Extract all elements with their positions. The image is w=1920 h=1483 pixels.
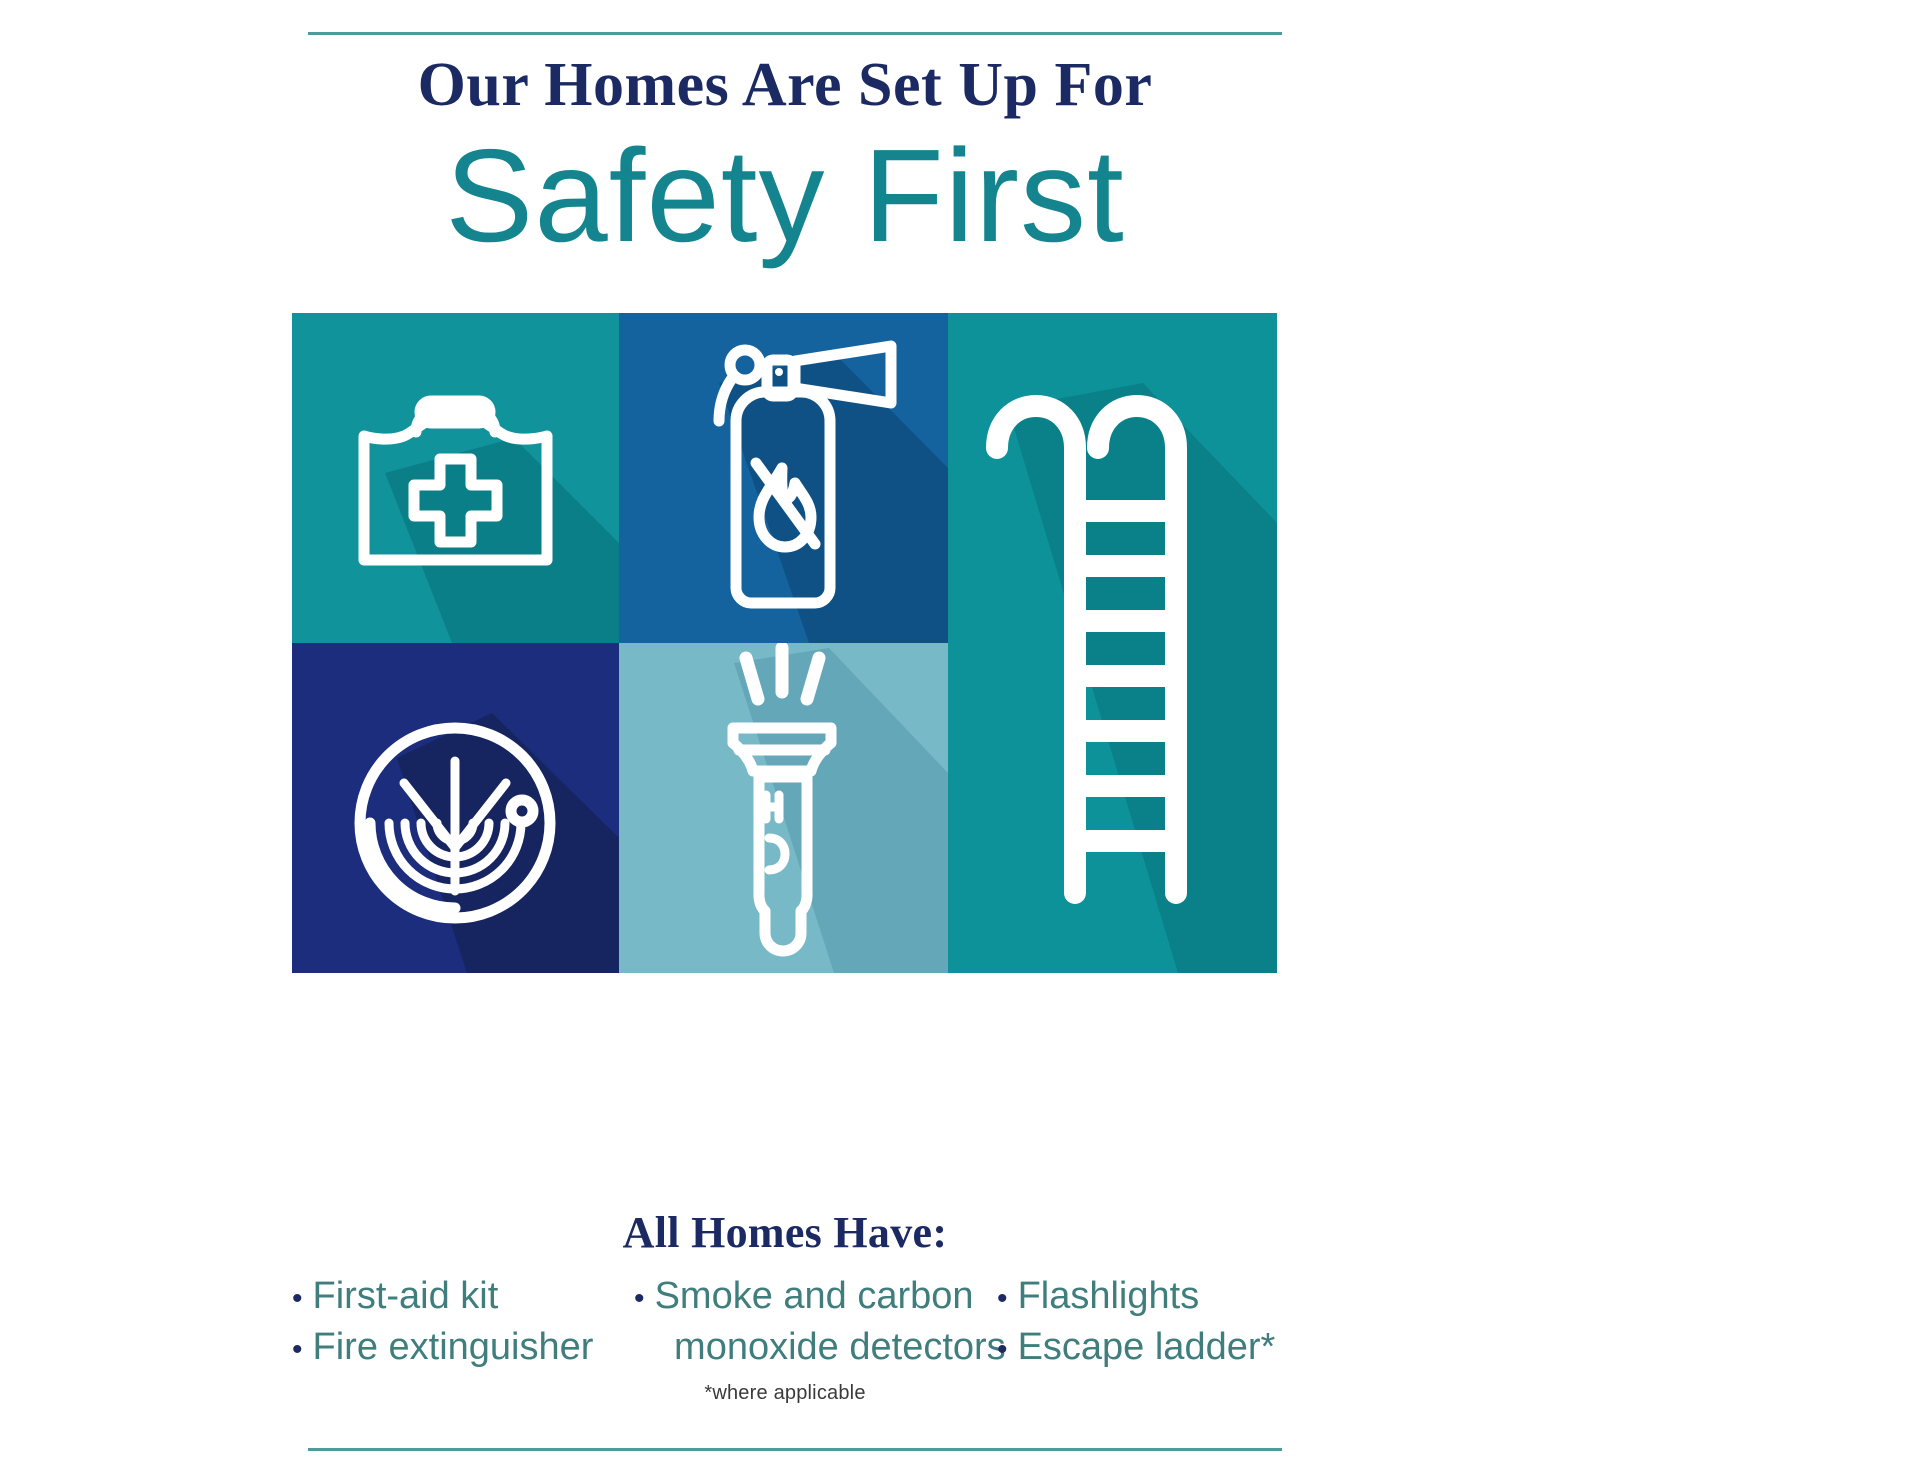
bullet-dot-icon: • <box>292 1274 303 1323</box>
bullet-dot-icon: • <box>997 1325 1008 1374</box>
list-item-label: Fire extinguisher <box>313 1323 594 1372</box>
smoke-detector-icon <box>292 643 619 973</box>
headline-line-2: Safety First <box>0 126 1570 266</box>
list-item-label: Smoke and carbon <box>655 1272 974 1321</box>
first-aid-kit-icon <box>292 313 619 643</box>
list-item-label: First-aid kit <box>313 1272 499 1321</box>
bullet-dot-icon: • <box>292 1325 303 1374</box>
tile-escape-ladder <box>948 313 1277 973</box>
list-item-continuation: monoxide detectors <box>634 1323 979 1372</box>
list-item-label: Flashlights <box>1018 1272 1200 1321</box>
flashlight-icon <box>619 643 948 973</box>
list-item-label: monoxide detectors <box>674 1323 1006 1372</box>
tile-fire-extinguisher <box>619 313 948 643</box>
list-item: • Flashlights <box>997 1272 1300 1323</box>
fire-extinguisher-icon <box>619 313 948 643</box>
top-divider-rule <box>308 32 1282 35</box>
list-item-label: Escape ladder* <box>1018 1323 1276 1372</box>
tile-flashlight <box>619 643 948 973</box>
checklist-columns: • First-aid kit • Fire extinguisher • Sm… <box>270 1272 1300 1374</box>
poster-canvas: Our Homes Are Set Up For Safety First <box>0 0 1570 1483</box>
bottom-divider-rule <box>308 1448 1282 1451</box>
list-item: • First-aid kit <box>292 1272 634 1323</box>
bullet-dot-icon: • <box>634 1274 645 1323</box>
footnote-where-applicable: *where applicable <box>270 1382 1300 1405</box>
headline-block: Our Homes Are Set Up For Safety First <box>0 48 1570 266</box>
list-item: • Smoke and carbon <box>634 1272 979 1323</box>
all-homes-have-heading: All Homes Have: <box>0 1207 1570 1258</box>
checklist-column-3: • Flashlights • Escape ladder* <box>979 1272 1300 1374</box>
list-item: • Fire extinguisher <box>292 1323 634 1374</box>
icon-grid <box>292 313 1277 973</box>
tile-first-aid-kit <box>292 313 619 643</box>
tile-smoke-detector <box>292 643 619 973</box>
list-item: • Escape ladder* <box>997 1323 1300 1374</box>
checklist-column-1: • First-aid kit • Fire extinguisher <box>270 1272 634 1374</box>
headline-line-1: Our Homes Are Set Up For <box>0 48 1570 122</box>
escape-ladder-icon <box>948 313 1277 973</box>
bullet-dot-icon: • <box>997 1274 1008 1323</box>
checklist-column-2: • Smoke and carbon monoxide detectors <box>634 1272 979 1372</box>
